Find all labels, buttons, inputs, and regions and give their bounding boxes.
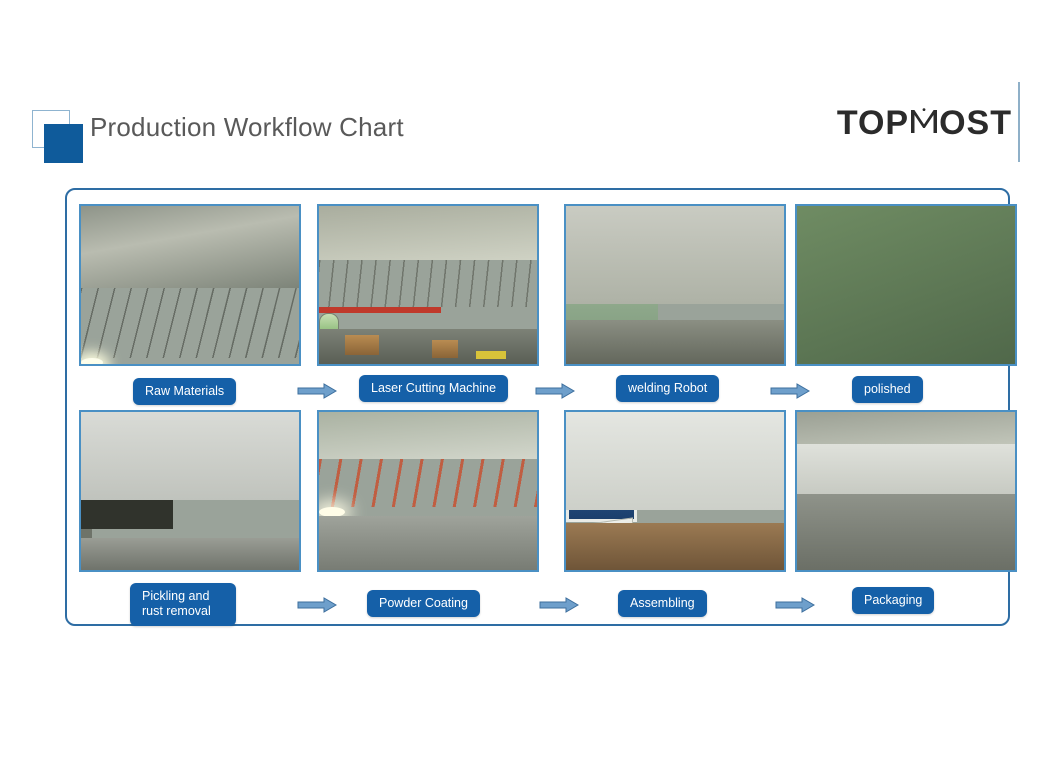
brand-letter-m-icon bbox=[910, 108, 938, 134]
logo-square-solid bbox=[44, 124, 83, 163]
brand-logo-topmost: TOPOST bbox=[837, 104, 1012, 143]
workflow-step-laser-cutting[interactable] bbox=[317, 204, 539, 366]
brand-text-right: OST bbox=[939, 104, 1012, 143]
workflow-step-packaging[interactable] bbox=[795, 410, 1017, 572]
workflow-step-powder-coating[interactable] bbox=[317, 410, 539, 572]
label-powder-coating[interactable]: Powder Coating bbox=[367, 590, 480, 617]
workflow-step-raw-materials[interactable] bbox=[79, 204, 301, 366]
label-laser-cutting-machine[interactable]: Laser Cutting Machine bbox=[359, 375, 508, 402]
right-arrow-icon-5 bbox=[539, 597, 579, 613]
photo-polished-profiles bbox=[795, 204, 1017, 366]
workflow-step-pickling[interactable] bbox=[79, 410, 301, 572]
photo-warehouse-raw-materials bbox=[79, 204, 301, 366]
label-polished[interactable]: polished bbox=[852, 376, 923, 403]
workflow-row-1: Raw Materials Laser Cutting Machine weld… bbox=[67, 198, 1012, 406]
page-title: Production Workflow Chart bbox=[90, 112, 404, 143]
overlapping-squares-logo-icon bbox=[32, 110, 92, 165]
label-packaging[interactable]: Packaging bbox=[852, 587, 934, 614]
photo-pickling-rust-removal bbox=[79, 410, 301, 572]
label-line-2: rust removal bbox=[142, 604, 211, 618]
photo-welding-robot bbox=[564, 204, 786, 366]
label-assembling[interactable]: Assembling bbox=[618, 590, 707, 617]
photo-powder-coating-line bbox=[317, 410, 539, 572]
workflow-step-polished[interactable] bbox=[795, 204, 1017, 366]
header-vertical-divider bbox=[1018, 82, 1020, 162]
right-arrow-icon-6 bbox=[775, 597, 815, 613]
page-header: Production Workflow Chart TOPOST bbox=[0, 0, 1060, 175]
photo-assembling-station bbox=[564, 410, 786, 572]
label-welding-robot[interactable]: welding Robot bbox=[616, 375, 719, 402]
brand-text-left: TOP bbox=[837, 104, 909, 143]
workflow-container: Raw Materials Laser Cutting Machine weld… bbox=[65, 188, 1010, 626]
label-pickling-and-rust-removal[interactable]: Pickling and rust removal bbox=[130, 583, 236, 626]
right-arrow-icon-4 bbox=[297, 597, 337, 613]
photo-packaging-area bbox=[795, 410, 1017, 572]
photo-laser-cutting-machine bbox=[317, 204, 539, 366]
workflow-step-welding-robot[interactable] bbox=[564, 204, 786, 366]
right-arrow-icon-2 bbox=[535, 383, 575, 399]
workflow-row-2: Pickling and rust removal Powder Coating… bbox=[67, 404, 1012, 612]
label-raw-materials[interactable]: Raw Materials bbox=[133, 378, 236, 405]
workflow-step-assembling[interactable] bbox=[564, 410, 786, 572]
label-line-1: Pickling and bbox=[142, 589, 209, 603]
right-arrow-icon-1 bbox=[297, 383, 337, 399]
right-arrow-icon-3 bbox=[770, 383, 810, 399]
